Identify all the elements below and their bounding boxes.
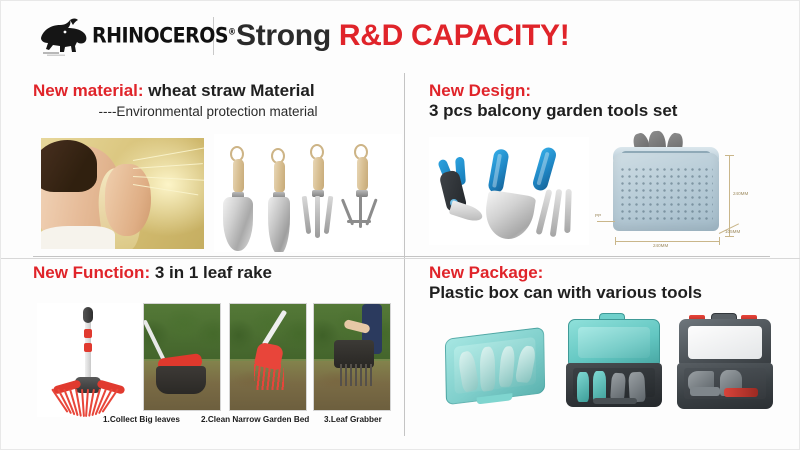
wheat-straw-photo <box>41 138 204 249</box>
header: RHINOCEROS® Strong R&D CAPACITY! <box>1 1 800 71</box>
shear-blade <box>449 200 485 224</box>
blue-handle-tools-photo <box>429 137 589 245</box>
foliage-shape <box>143 303 221 359</box>
hand-shape <box>105 164 151 236</box>
trowel-blade <box>482 190 537 243</box>
case-lid <box>568 319 660 365</box>
dim-height-label: 240MM <box>733 191 748 196</box>
caption-collect-big-leaves: 1.Collect Big leaves <box>103 415 180 424</box>
page-title: Strong R&D CAPACITY! <box>236 19 569 53</box>
closed-teal-tool-case <box>439 313 551 411</box>
shirt-shape <box>41 226 115 249</box>
action-photo-collect-leaves <box>143 303 221 411</box>
dim-width-label: 240MM <box>653 243 668 248</box>
storage-basket-render: 240MM 240MM 105MM PP <box>591 133 773 255</box>
new-function-label: New Function: <box>33 263 150 282</box>
slide-canvas: RHINOCEROS® Strong R&D CAPACITY! New mat… <box>0 0 800 450</box>
cultivator-grip <box>531 146 558 192</box>
title-part-red: R&D CAPACITY! <box>339 19 570 52</box>
case-lid-window <box>688 326 762 359</box>
brand-logo: RHINOCEROS® <box>35 16 207 56</box>
vertical-divider <box>404 73 405 436</box>
dim-material-label: PP <box>595 213 601 218</box>
case-inner <box>454 337 536 394</box>
basket-mesh-pattern <box>619 166 713 224</box>
action-photo-clean-garden-bed <box>229 303 307 411</box>
trowel-grip <box>487 148 509 194</box>
open-grey-red-tool-case <box>675 313 775 413</box>
new-material-subtitle: ----Environmental protection material <box>33 104 401 119</box>
basket-body <box>613 153 719 231</box>
dim-depth-label: 105MM <box>725 229 740 234</box>
caption-clean-narrow-garden-bed: 2.Clean Narrow Garden Bed <box>201 415 309 424</box>
caption-leaf-grabber: 3.Leaf Grabber <box>324 415 382 424</box>
case-tray <box>684 368 766 399</box>
action-captions: 1.Collect Big leaves 2.Clean Narrow Gard… <box>97 415 397 429</box>
new-design-text: 3 pcs balcony garden tools set <box>429 101 773 121</box>
action-photo-leaf-grabber <box>313 303 391 411</box>
wheat-handle-tools-photo <box>214 134 402 252</box>
rake-grip <box>83 307 93 323</box>
new-material-heading: New material: wheat straw Material <box>33 81 401 101</box>
leaf-rake-photo <box>37 303 141 417</box>
case-shell <box>445 327 545 406</box>
new-package-label: New Package: <box>429 263 773 283</box>
new-package-text: Plastic box can with various tools <box>429 283 773 303</box>
new-design-heading: New Design: 3 pcs balcony garden tools s… <box>429 81 773 121</box>
title-part-dark: Strong <box>236 19 339 52</box>
hair-shape <box>41 140 97 192</box>
new-function-text: 3 in 1 leaf rake <box>150 263 272 282</box>
brand-wordmark: RHINOCEROS® <box>92 24 236 49</box>
open-teal-tool-case <box>563 313 665 413</box>
new-material-text: wheat straw Material <box>144 81 315 100</box>
new-material-label: New material: <box>33 81 144 100</box>
case-lid <box>679 319 771 365</box>
new-design-label: New Design: <box>429 81 773 101</box>
case-base <box>566 363 662 407</box>
new-function-heading: New Function: 3 in 1 leaf rake <box>33 263 401 283</box>
horizontal-divider <box>33 256 770 257</box>
case-base <box>677 363 773 409</box>
case-lid-face <box>578 327 650 358</box>
rhinoceros-icon <box>35 16 91 56</box>
horizontal-divider-secondary <box>1 258 800 259</box>
new-package-heading: New Package: Plastic box can with variou… <box>429 263 773 303</box>
case-tray <box>573 368 655 397</box>
